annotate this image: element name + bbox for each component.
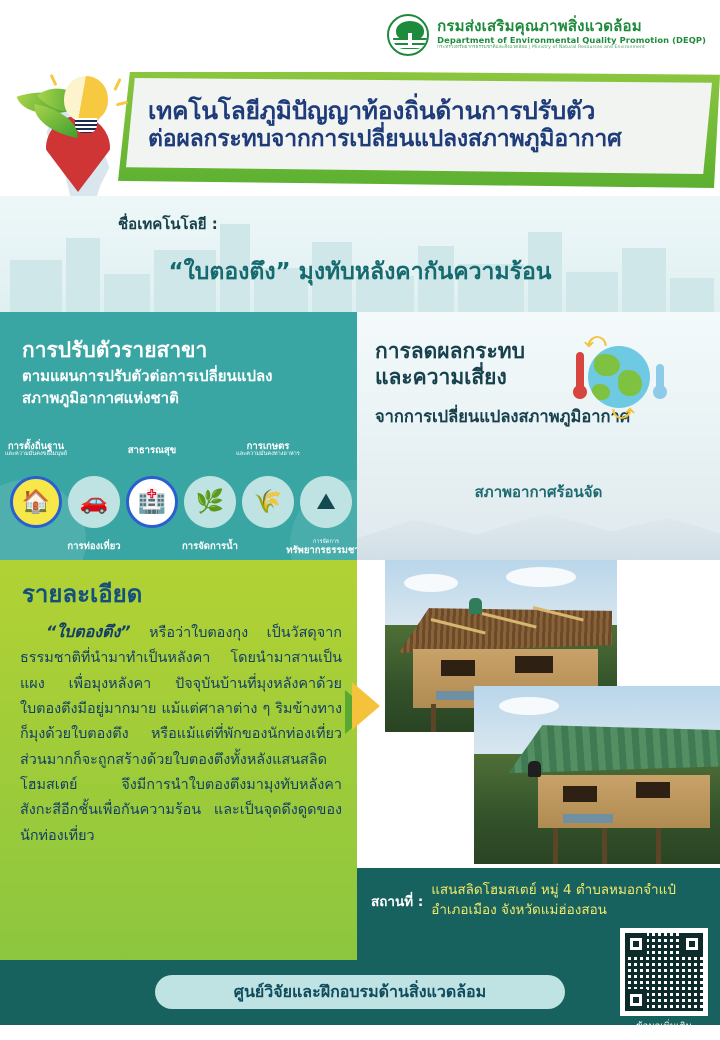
details-body-text: หรือว่าใบตองกุง เป็นวัสดุจากธรรมชาติที่น…: [20, 625, 342, 844]
technology-name: “ใบตองตึง” มุงทับหลังคากันความร้อน: [0, 254, 720, 290]
sector-label-sub: และความมั่นคงของมนุษย์: [0, 452, 96, 458]
stilt-house-photo: [474, 686, 720, 864]
location-line-2: อำเภอเมือง จังหวัดแม่ฮ่องสอน: [431, 902, 607, 918]
sector-settlements[interactable]: การตั้งถิ่นฐาน และความมั่นคงของมนุษย์ 🏠: [8, 476, 64, 528]
adaptation-subheading: ตามแผนการปรับตัวต่อการเปลี่ยนแปลง สภาพภู…: [22, 366, 342, 410]
hospital-ambulance-icon: 🏥: [126, 476, 178, 528]
pointer-arrow-icon: [352, 682, 380, 730]
location-line-1: แสนสลิดโฮมสเตย์ หมู่ 4 ตำบลหมอกจำแป๋: [431, 882, 676, 898]
footer-organization: ศูนย์วิจัยและฝึกอบรมด้านสิ่งแวดล้อม: [155, 975, 565, 1009]
details-panel: รายละเอียด “ใบตองตึง” หรือว่าใบตองกุง เป…: [0, 560, 357, 960]
adaptation-heading: การปรับตัวรายสาขา: [22, 334, 207, 367]
sector-public-health[interactable]: สาธารณสุข 🏥: [124, 476, 180, 528]
org-name-thai: กรมส่งเสริมคุณภาพสิ่งแวดล้อม: [437, 19, 706, 35]
sector-water-management[interactable]: 🌿 การจัดการน้ำ: [182, 476, 238, 528]
header: กรมส่งเสริมคุณภาพสิ่งแวดล้อม Department …: [0, 0, 720, 72]
mitigation-heading-line-2: และความเสี่ยง: [375, 365, 507, 389]
technology-label: ชื่อเทคโนโลยี :: [118, 212, 218, 236]
natural-resources-mountain-icon: ⛰: [300, 476, 352, 528]
details-body: “ใบตองตึง” หรือว่าใบตองกุง เป็นวัสดุจากธ…: [20, 618, 342, 849]
mitigation-heading: การลดผลกระทบ และความเสี่ยง: [375, 338, 525, 391]
mitigation-panel: การลดผลกระทบ และความเสี่ยง จากการเปลี่ยน…: [357, 312, 720, 560]
details-highlight-term: “ใบตองตึง”: [46, 622, 131, 641]
mitigation-note: สภาพอากาศร้อนจัด: [357, 480, 720, 504]
sector-label-main: การท่องเที่ยว: [34, 542, 154, 552]
sector-agriculture[interactable]: การเกษตร และความมั่นคงทางอาหาร 🌾: [240, 476, 296, 528]
title-line-2: ต่อผลกระทบจากการเปลี่ยนแปลงสภาพภูมิอากาศ: [148, 126, 692, 153]
sector-natural-resources[interactable]: ⛰ การจัดการ ทรัพยากรธรรมชาติ: [298, 476, 354, 528]
adaptation-subheading-line-1: ตามแผนการปรับตัวต่อการเปลี่ยนแปลง: [22, 367, 273, 385]
location-value: แสนสลิดโฮมสเตย์ หมู่ 4 ตำบลหมอกจำแป๋ อำเ…: [431, 880, 676, 921]
technology-section: ชื่อเทคโนโลยี : “ใบตองตึง” มุงทับหลังคาก…: [0, 196, 720, 312]
org-name-english: Department of Environmental Quality Prom…: [437, 36, 706, 45]
details-title: รายละเอียด: [22, 574, 142, 613]
ministry-line: กระทรวงทรัพยากรธรรมชาติและสิ่งแวดล้อม | …: [437, 46, 706, 51]
water-tap-river-icon: 🌿: [184, 476, 236, 528]
tourism-city-car-icon: 🚗: [68, 476, 120, 528]
bottom-margin: [0, 1025, 720, 1040]
tree-water-emblem-icon: [387, 14, 429, 56]
sector-label-main: ทรัพยากรธรรมชาติ: [266, 546, 357, 556]
mitigation-heading-line-1: การลดผลกระทบ: [375, 339, 525, 363]
adaptation-panel: การปรับตัวรายสาขา ตามแผนการปรับตัวต่อการ…: [0, 312, 357, 560]
title-section: เทคโนโลยีภูมิปัญญาท้องถิ่นด้านการปรับตัว…: [0, 62, 720, 212]
deqp-logo: กรมส่งเสริมคุณภาพสิ่งแวดล้อม Department …: [387, 14, 706, 56]
title-line-1: เทคโนโลยีภูมิปัญญาท้องถิ่นด้านการปรับตัว: [148, 97, 692, 125]
sector-label-sub: และความมั่นคงทางอาหาร: [208, 452, 328, 458]
qr-caption: ข้อมูลเพิ่มเติม: [620, 1019, 708, 1034]
qr-code-icon[interactable]: [620, 928, 708, 1016]
title-banner: เทคโนโลยีภูมิปัญญาท้องถิ่นด้านการปรับตัว…: [126, 78, 712, 174]
sector-tourism[interactable]: 🚗 การท่องเที่ยว: [66, 476, 122, 528]
poster-root: กรมส่งเสริมคุณภาพสิ่งแวดล้อม Department …: [0, 0, 720, 1040]
village-houses-icon: 🏠: [10, 476, 62, 528]
globe-thermometer-icon: ⤺ ⤻: [562, 332, 674, 424]
agriculture-tractor-wheat-icon: 🌾: [242, 476, 294, 528]
location-label: สถานที่ :: [371, 890, 423, 912]
sector-icon-row: การตั้งถิ่นฐาน และความมั่นคงของมนุษย์ 🏠 …: [6, 440, 354, 552]
sector-label-main: สาธารณสุข: [92, 446, 212, 456]
adaptation-subheading-line-2: สภาพภูมิอากาศแห่งชาติ: [22, 389, 179, 407]
sector-label-main: การจัดการน้ำ: [150, 542, 270, 552]
